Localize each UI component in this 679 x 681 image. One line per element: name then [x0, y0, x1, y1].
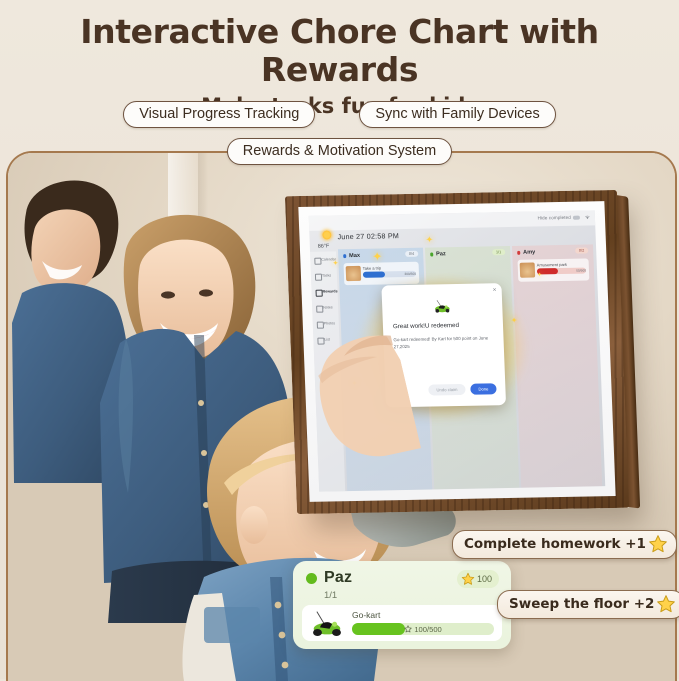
done-button[interactable]: Done	[470, 383, 496, 394]
status-dot	[430, 253, 434, 256]
member-name: Max	[349, 253, 360, 259]
star-outline-icon	[404, 625, 412, 633]
frame-mat: Hide completed June 27 02:58 PM 86°F	[298, 201, 615, 502]
task-title: Amusement park	[537, 262, 567, 268]
feature-pill-row-2: Rewards & Motivation System	[0, 138, 679, 165]
task-thumbnail	[520, 263, 536, 278]
task-progress-label: 300/800	[404, 272, 416, 276]
hide-completed-label: Hide completed	[537, 215, 571, 221]
wifi-icon	[584, 213, 591, 220]
member-task-count: 0/2	[575, 247, 589, 253]
chore-chart-app: Hide completed June 27 02:58 PM 86°F	[309, 210, 606, 491]
sparkle-icon: ✦	[372, 252, 382, 261]
member-header-paz: Paz	[430, 251, 446, 257]
member-task-count: 1/1	[492, 249, 506, 255]
member-column-amy[interactable]: Amy 0/2 Amusement park 50/900	[512, 244, 602, 487]
star-icon	[648, 534, 668, 554]
status-dot	[343, 254, 347, 257]
app-topbar	[309, 210, 596, 230]
hide-completed-toggle[interactable]	[573, 215, 580, 219]
modal-body: Go-kart redeemed! By Karl for 500 point …	[393, 335, 493, 350]
sidebar-item-label: Rewards	[323, 289, 338, 293]
reward-progress-card[interactable]: Paz 1/1 100 Go-kart	[293, 561, 511, 649]
reward-title: Go-kart	[352, 610, 380, 620]
reward-progress-value: 100/500	[414, 625, 441, 634]
sidebar-item-tasks[interactable]: Tasks	[315, 271, 337, 282]
task-progress-fill	[363, 271, 385, 277]
task-thumbnail	[346, 266, 362, 281]
member-header-amy: Amy	[517, 249, 535, 255]
chore-chart-screen[interactable]: Hide completed June 27 02:58 PM 86°F	[309, 210, 606, 491]
chore-pill-label: Complete homework +1	[464, 536, 646, 552]
member-name: Amy	[523, 249, 535, 255]
status-dot	[306, 573, 317, 584]
modal-title: Great work!U redeemed	[393, 321, 493, 330]
task-progress-label: 50/900	[576, 269, 586, 273]
chore-pill-complete-homework: Complete homework +1	[452, 530, 677, 559]
page-title: Interactive Chore Chart with Rewards	[0, 0, 679, 89]
wall-mounted-display-frame: Hide completed June 27 02:58 PM 86°F	[285, 190, 629, 514]
member-name: Paz	[436, 251, 446, 257]
sidebar-item-rewards[interactable]: Rewards	[315, 287, 337, 298]
points-value: 100	[477, 574, 492, 584]
reward-card-header: Paz	[306, 569, 352, 587]
modal-actions: Undo claim Done	[428, 383, 496, 395]
points-badge: 100	[457, 570, 499, 588]
sparkle-icon: ✦	[537, 271, 542, 280]
star-icon	[461, 572, 475, 586]
hero-header: Interactive Chore Chart with Rewards Mak…	[0, 0, 679, 160]
reward-progress-bar: 100/500	[352, 623, 494, 635]
chore-pill-sweep-floor: Sweep the floor +2	[497, 590, 679, 619]
temperature-label: 86°F	[318, 243, 330, 249]
completed-ratio: 1/1	[324, 590, 337, 601]
sparkle-icon: ✦	[332, 259, 338, 268]
go-kart-icon	[308, 609, 346, 637]
feature-pill-sync-devices: Sync with Family Devices	[359, 101, 555, 128]
star-icon	[656, 594, 676, 614]
sidebar-item-label: Notes	[323, 305, 333, 309]
feature-pill-row-1: Visual Progress Tracking Sync with Famil…	[0, 101, 679, 128]
feature-pill-visual-progress: Visual Progress Tracking	[123, 101, 315, 128]
sparkle-icon: ✦	[426, 235, 434, 244]
member-task-count: 0/4	[405, 251, 419, 257]
feature-pill-rewards-system: Rewards & Motivation System	[227, 138, 452, 165]
reward-item-row[interactable]: Go-kart 100/500	[302, 605, 502, 641]
child-name: Paz	[324, 569, 352, 587]
task-card-amy[interactable]: Amusement park 50/900	[518, 258, 590, 281]
sidebar-item-label: Tasks	[322, 273, 331, 277]
close-icon[interactable]: ✕	[492, 287, 496, 293]
task-title: Take a trip	[363, 265, 382, 270]
status-dot	[517, 251, 521, 254]
page-background: Interactive Chore Chart with Rewards Mak…	[0, 0, 679, 679]
weather-sun-icon	[322, 230, 331, 239]
chore-pill-label: Sweep the floor +2	[509, 596, 654, 612]
date-time-label: June 27 02:58 PM	[337, 231, 399, 241]
reward-progress-label: 100/500	[352, 625, 494, 634]
go-kart-icon	[431, 297, 454, 313]
undo-claim-button[interactable]: Undo claim	[428, 384, 465, 396]
member-header-max: Max	[343, 253, 360, 259]
